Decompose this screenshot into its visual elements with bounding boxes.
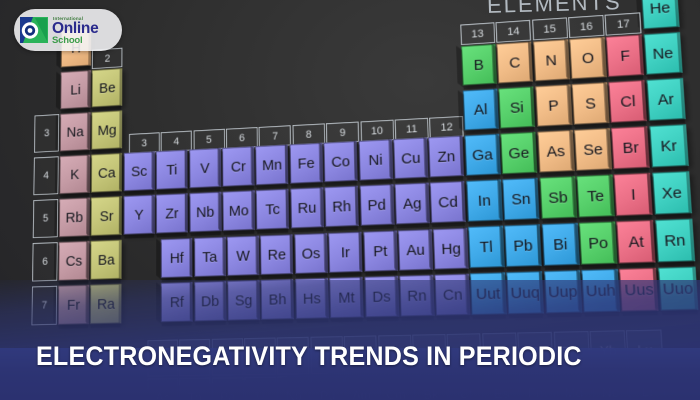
logo-wordmark: International Online School: [52, 17, 98, 46]
period-header-label: 6: [42, 256, 48, 268]
element-cell[interactable]: Tc: [256, 189, 289, 230]
element-symbol: B: [473, 56, 484, 73]
group-header-label: 9: [340, 127, 346, 139]
element-symbol: Os: [302, 245, 321, 263]
element-symbol: Mo: [229, 202, 249, 220]
element-cell[interactable]: Uuo: [658, 267, 698, 311]
element-symbol: Cd: [438, 193, 458, 211]
element-symbol: Mg: [98, 122, 117, 139]
element-symbol: Se: [583, 140, 603, 158]
group-header-label: 4: [174, 135, 180, 147]
element-cell[interactable]: Be: [92, 68, 123, 107]
three-d-scene: HHeLiBeBCNOFNeNaMgAlSiPSClArKCaScTiVCrMn…: [0, 0, 700, 400]
group-header-label: 15: [543, 23, 556, 36]
element-cell[interactable]: Bh: [261, 279, 294, 320]
group-header-label: 17: [617, 18, 631, 31]
element-symbol: Ga: [472, 146, 493, 164]
element-cell[interactable]: Mg: [92, 110, 123, 150]
element-symbol: I: [631, 186, 637, 204]
element-cell[interactable]: Rf: [161, 282, 193, 322]
element-symbol: Cs: [66, 252, 83, 269]
group-header: 7: [259, 125, 291, 147]
element-symbol: Ni: [368, 151, 382, 169]
group-header-label: 14: [507, 25, 520, 38]
element-symbol: Pb: [513, 236, 533, 254]
element-symbol: Na: [67, 123, 84, 140]
element-symbol: Hs: [303, 290, 321, 308]
element-cell[interactable]: Rn: [399, 275, 435, 317]
element-cell[interactable]: Te: [576, 174, 614, 217]
element-symbol: Rb: [66, 209, 84, 226]
element-symbol: Pd: [367, 196, 386, 214]
group-header-label: 5: [206, 134, 212, 146]
element-cell[interactable]: Co: [324, 141, 358, 182]
logo[interactable]: International Online School: [14, 9, 122, 51]
group-header-label: 3: [141, 137, 147, 149]
element-symbol: Fe: [298, 155, 315, 173]
element-symbol: Xe: [661, 184, 682, 203]
element-cell[interactable]: Cu: [393, 137, 428, 179]
element-cell[interactable]: Ni: [358, 139, 393, 180]
element-symbol: Sc: [131, 163, 147, 180]
element-symbol: Ra: [97, 295, 115, 312]
element-cell[interactable]: Re: [260, 234, 293, 275]
group-header-label: 8: [306, 128, 312, 140]
element-cell[interactable]: Xe: [652, 171, 692, 215]
element-symbol: Ar: [657, 90, 674, 108]
element-symbol: Tc: [265, 201, 280, 218]
group-header-label: 12: [440, 121, 453, 133]
element-symbol: Bi: [553, 235, 568, 253]
element-symbol: Hf: [170, 250, 184, 267]
element-cell[interactable]: Uup: [544, 270, 582, 313]
element-cell[interactable]: In: [466, 179, 503, 221]
element-symbol: Kr: [660, 137, 677, 155]
logo-mark-icon: [19, 15, 49, 45]
element-symbol: At: [628, 233, 644, 252]
period-header-label: 3: [44, 128, 50, 140]
group-header-label: 16: [580, 20, 593, 33]
group-header-label: 2: [105, 53, 111, 65]
element-symbol: Co: [331, 153, 350, 171]
element-cell[interactable]: Bi: [541, 223, 579, 266]
periodic-table-board: HHeLiBeBCNOFNeNaMgAlSiPSClArKCaScTiVCrMn…: [53, 0, 697, 327]
element-symbol: Si: [510, 99, 525, 117]
element-cell[interactable]: Br: [611, 126, 650, 169]
element-symbol: C: [509, 54, 521, 72]
period-header-label: 7: [42, 300, 48, 312]
group-header: 16: [568, 15, 605, 38]
element-symbol: Mn: [262, 156, 282, 174]
group-header: 17: [605, 12, 642, 35]
element-symbol: Uut: [476, 284, 501, 302]
element-cell[interactable]: Ra: [90, 284, 122, 324]
element-symbol: Cn: [443, 286, 463, 304]
element-symbol: W: [236, 247, 250, 264]
element-cell[interactable]: Po: [579, 221, 618, 264]
element-symbol: Sr: [100, 208, 114, 225]
element-cell[interactable]: Ca: [91, 153, 122, 193]
element-symbol: Ge: [508, 144, 529, 162]
element-symbol: Uup: [548, 282, 578, 301]
group-header-label: 10: [371, 125, 383, 137]
element-cell[interactable]: Sc: [123, 151, 154, 191]
element-symbol: Y: [134, 206, 143, 223]
period-header: 7: [31, 286, 57, 326]
element-symbol: Ru: [298, 199, 317, 217]
element-symbol: Au: [406, 241, 425, 259]
element-cell[interactable]: Kr: [649, 124, 688, 167]
element-symbol: Ir: [341, 244, 350, 261]
element-cell[interactable]: Db: [194, 281, 226, 321]
element-cell[interactable]: Se: [574, 128, 612, 171]
logo-subname: School: [52, 36, 98, 46]
element-cell[interactable]: Ge: [500, 132, 537, 174]
element-symbol: Nb: [196, 203, 214, 220]
element-symbol: Mt: [338, 289, 355, 307]
element-symbol: Rh: [332, 198, 351, 216]
period-header-label: 4: [43, 170, 49, 182]
element-cell[interactable]: Nb: [189, 192, 221, 233]
element-symbol: Cu: [401, 149, 421, 167]
element-symbol: Ag: [403, 195, 422, 213]
element-symbol: Uuo: [662, 279, 694, 298]
element-cell[interactable]: He: [641, 0, 680, 29]
element-symbol: Hg: [441, 240, 461, 258]
element-cell[interactable]: Cn: [435, 274, 471, 316]
element-symbol: Rn: [407, 287, 427, 305]
element-symbol: P: [548, 97, 559, 115]
group-header-label: 11: [406, 123, 418, 135]
element-cell[interactable]: Mn: [256, 145, 289, 186]
element-symbol: V: [200, 160, 210, 177]
element-cell[interactable]: Ti: [156, 150, 188, 190]
element-cell[interactable]: Zn: [429, 136, 465, 178]
element-symbol: Uuh: [585, 281, 616, 300]
element-cell[interactable]: Zr: [156, 193, 188, 233]
group-header: 13: [460, 22, 495, 45]
element-symbol: Bh: [269, 291, 287, 308]
element-symbol: Ti: [166, 161, 177, 178]
element-cell[interactable]: Hg: [433, 228, 469, 270]
element-symbol: S: [585, 95, 596, 113]
element-cell[interactable]: Au: [398, 229, 433, 271]
banner-headline: ELECTRONEGATIVITY TRENDS IN PERIODIC: [36, 341, 582, 372]
element-symbol: Cr: [231, 158, 246, 175]
element-cell[interactable]: Ne: [644, 32, 683, 75]
group-header-label: 6: [239, 132, 245, 144]
element-symbol: Tl: [479, 238, 493, 256]
element-cell[interactable]: Hs: [295, 278, 329, 319]
element-cell[interactable]: Rh: [325, 186, 359, 227]
element-cell[interactable]: S: [572, 82, 610, 125]
element-symbol: Be: [99, 79, 116, 96]
element-cell[interactable]: N: [533, 39, 570, 81]
element-cell[interactable]: Ta: [194, 237, 226, 277]
element-cell[interactable]: Hf: [161, 238, 193, 278]
element-cell[interactable]: Pt: [363, 230, 398, 271]
element-symbol: In: [478, 192, 492, 210]
group-header: 10: [360, 120, 394, 142]
element-cell[interactable]: V: [189, 148, 221, 188]
element-symbol: O: [581, 49, 594, 67]
group-header-label: 13: [471, 27, 484, 40]
element-cell[interactable]: Si: [499, 86, 536, 128]
group-header: 3: [129, 132, 160, 153]
element-cell[interactable]: Mt: [329, 277, 363, 318]
element-symbol: Cl: [620, 92, 636, 110]
element-symbol: Ta: [202, 248, 217, 265]
element-cell[interactable]: C: [497, 42, 534, 84]
element-cell[interactable]: Sb: [539, 176, 577, 219]
element-cell[interactable]: Sr: [91, 196, 122, 236]
element-symbol: He: [649, 0, 670, 17]
element-symbol: Te: [587, 187, 605, 205]
element-symbol: Zn: [437, 148, 455, 166]
element-symbol: Sn: [511, 190, 531, 208]
element-symbol: Uus: [624, 280, 654, 299]
element-symbol: Ca: [98, 164, 116, 181]
element-cell[interactable]: W: [227, 236, 260, 276]
element-symbol: Db: [201, 293, 219, 310]
element-cell[interactable]: At: [617, 220, 656, 264]
element-cell[interactable]: Uus: [619, 268, 659, 312]
element-symbol: Al: [473, 101, 487, 119]
element-cell[interactable]: Ir: [328, 232, 362, 273]
element-cell[interactable]: B: [461, 44, 497, 86]
element-cell[interactable]: Ar: [646, 78, 685, 121]
element-cell[interactable]: F: [606, 34, 644, 77]
element-cell[interactable]: Uuq: [506, 271, 544, 314]
group-header: 11: [395, 118, 429, 140]
element-cell[interactable]: Uuh: [581, 269, 620, 313]
element-symbol: Ne: [652, 44, 674, 63]
element-symbol: N: [545, 51, 557, 69]
element-cell[interactable]: Ba: [91, 240, 122, 280]
element-symbol: K: [70, 166, 79, 183]
element-symbol: Sb: [548, 188, 568, 206]
element-cell[interactable]: Cd: [430, 181, 466, 223]
element-symbol: Li: [70, 82, 81, 98]
element-symbol: Pt: [373, 242, 388, 260]
element-cell[interactable]: Pd: [359, 184, 394, 226]
element-symbol: Rf: [170, 294, 184, 311]
element-symbol: As: [546, 142, 565, 160]
element-cell[interactable]: O: [569, 37, 607, 79]
element-cell[interactable]: Y: [123, 195, 154, 235]
element-cell[interactable]: Uut: [470, 272, 507, 315]
element-cell[interactable]: Pb: [504, 224, 541, 267]
element-symbol: Ba: [98, 251, 115, 268]
element-symbol: Sg: [235, 292, 253, 309]
element-cell[interactable]: Tl: [468, 226, 505, 269]
element-cell[interactable]: Al: [463, 89, 499, 131]
element-cell[interactable]: P: [535, 84, 572, 126]
element-symbol: Br: [622, 139, 639, 157]
group-header: 15: [532, 17, 568, 40]
element-symbol: Fr: [67, 296, 80, 313]
element-cell[interactable]: Os: [294, 233, 328, 274]
periodic-table-scene: HHeLiBeBCNOFNeNaMgAlSiPSClArKCaScTiVCrMn…: [0, 0, 700, 400]
element-cell[interactable]: Ag: [395, 183, 431, 225]
group-header-label: 7: [272, 130, 278, 142]
element-symbol: Ds: [372, 288, 391, 306]
element-cell[interactable]: Sn: [502, 178, 539, 221]
element-cell[interactable]: Ds: [364, 276, 399, 318]
element-cell[interactable]: As: [537, 130, 575, 173]
element-symbol: Rn: [664, 231, 686, 250]
element-symbol: Re: [268, 246, 287, 263]
element-symbol: Po: [588, 234, 609, 253]
element-cell[interactable]: Ga: [464, 134, 500, 176]
element-symbol: Zr: [165, 205, 178, 222]
period-header-label: 5: [43, 213, 49, 225]
element-cell[interactable]: Rn: [655, 219, 695, 263]
element-cell[interactable]: Cl: [609, 80, 648, 123]
element-symbol: F: [620, 47, 631, 65]
element-cell[interactable]: I: [614, 173, 653, 216]
group-header: 14: [496, 20, 532, 43]
element-symbol: Uuq: [510, 283, 540, 302]
element-cell[interactable]: Sg: [227, 280, 260, 321]
